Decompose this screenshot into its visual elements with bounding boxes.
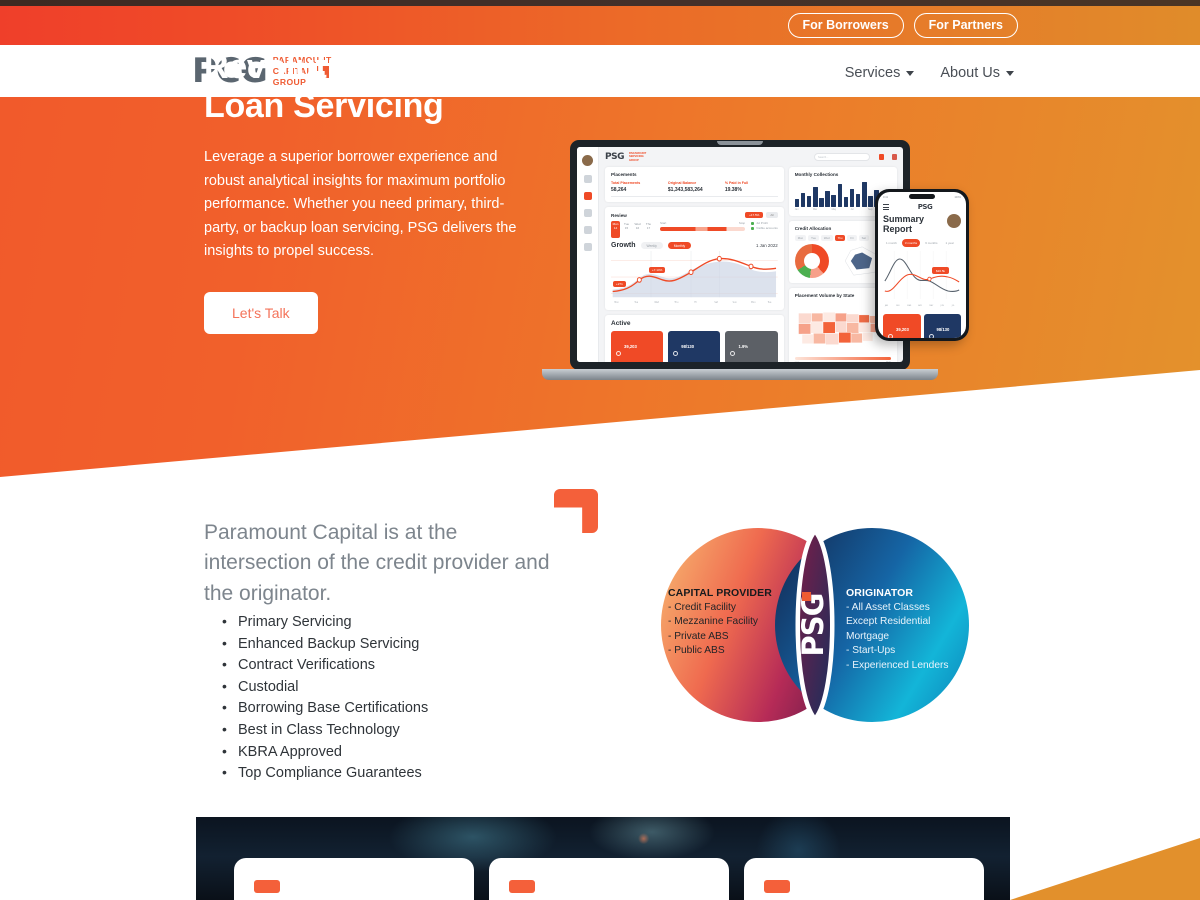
growth-marker-1: +271 (613, 281, 626, 287)
review-legend: Jul Profit Visible accounts (751, 221, 778, 230)
svg-text:JUL: JUL (951, 305, 956, 307)
active-title: Active (611, 320, 778, 327)
venn-left-item: - Credit Facility (668, 601, 790, 615)
nav-item-about-us[interactable]: About Us (940, 65, 1014, 81)
site-header: PCG PARAMOUNT CAPITAL GROUP Services Abo… (0, 45, 1200, 97)
alloc-tab[interactable]: Fri (847, 235, 856, 241)
chip-value: 98/130 (681, 344, 694, 349)
chip-value: 39,203 (624, 344, 637, 349)
growth-chart: MonTueWed ThuFriSat SunMonTue +271 +7.14… (611, 251, 778, 305)
legend-swatch (751, 222, 754, 225)
svg-text:Wed: Wed (654, 301, 659, 304)
venn-right-item: - All Asset Classes (846, 601, 986, 615)
svg-text:Tue: Tue (634, 301, 638, 304)
phone-range-tabs: 1 month 3 months 6 months 1 year (883, 239, 961, 247)
shield-icon (730, 351, 735, 356)
landing-page: For Borrowers For Partners PCG PARAMOUNT… (0, 0, 1200, 900)
phone-chart-marker: $20.5k (932, 267, 949, 274)
hamburger-menu-icon[interactable] (883, 204, 889, 209)
placements-title: Placements (611, 172, 778, 177)
list-item: Custodial (222, 677, 428, 699)
hero-device-mockup: PSG PARAMOUNT SERVICING GROUP Search... (536, 140, 986, 400)
nav-label-about-us: About Us (940, 65, 1000, 81)
range-bar-fill (660, 227, 745, 231)
feature-icon (509, 880, 535, 893)
hero-subtitle: Leverage a superior borrower experience … (204, 146, 524, 263)
svg-text:JUN: JUN (940, 305, 945, 307)
metric-value: $1,343,583,264 (668, 187, 721, 193)
phone-tab[interactable]: 1 month (883, 239, 900, 247)
chip-value: 98/130 (937, 327, 950, 332)
phone-title: Summary Report (883, 214, 924, 234)
venn-left-item: - Private ABS (668, 630, 790, 644)
venn-diagram: PSG CAPITAL PROVIDER - Credit Facility -… (640, 525, 990, 747)
phone-tab[interactable]: 1 year (943, 239, 957, 247)
active-chip-serviced[interactable]: 98/130 Serviced (668, 331, 720, 362)
dashboard-logo-wordmark: PARAMOUNT SERVICING GROUP (629, 152, 646, 162)
features-section (196, 817, 1010, 900)
grid-icon (929, 334, 934, 338)
sidebar-reports-icon[interactable] (584, 209, 592, 217)
svg-text:Sun: Sun (733, 301, 738, 304)
feature-card[interactable] (744, 858, 984, 900)
credit-allocation-donut (795, 244, 829, 278)
metric-label: % Paid in Full (725, 181, 778, 185)
laptop-camera-icon (717, 141, 763, 145)
list-item: Borrowing Base Certifications (222, 698, 428, 720)
laptop-screen: PSG PARAMOUNT SERVICING GROUP Search... (570, 140, 910, 370)
svg-text:APR: APR (918, 304, 922, 307)
chip-value: 1.9% (738, 344, 748, 349)
chevron-down-icon (1006, 71, 1014, 76)
for-partners-button[interactable]: For Partners (914, 13, 1018, 39)
phone-avatar[interactable] (947, 214, 961, 228)
phone-mockup: 9:41 100% PSG Summary Report 1 month 3 m… (875, 189, 969, 341)
nav-item-services[interactable]: Services (845, 65, 915, 81)
active-chip-accounts[interactable]: 39,203 Accounts (611, 331, 663, 362)
metric-original-balance: Original Balance $1,343,583,264 (668, 181, 721, 193)
clock-icon (616, 351, 621, 356)
legend-label: Jul Profit (756, 221, 768, 225)
phone-chip-serviced[interactable]: 98/130 Serviced (924, 314, 962, 338)
metric-value: 19.38% (725, 187, 778, 193)
phone-tab[interactable]: 6 months (922, 239, 940, 247)
orange-wedge-decoration (1010, 838, 1200, 900)
menu-icon[interactable] (892, 154, 897, 160)
scale-high-label: High (886, 361, 891, 362)
list-item: Enhanced Backup Servicing (222, 634, 428, 656)
hero-content: Revolutionizing Loan Servicing Leverage … (204, 48, 524, 334)
intersection-heading: Paramount Capital is at the intersection… (204, 518, 554, 609)
dashboard-app: PSG PARAMOUNT SERVICING GROUP Search... (577, 147, 903, 362)
feature-card[interactable] (489, 858, 729, 900)
phone-chart: JANFEBMAR APRMAYJUNJUL $20.5k (883, 251, 961, 309)
chip-value: 39,203 (896, 327, 909, 332)
svg-text:JAN: JAN (884, 304, 889, 307)
phone-logo-mark: PSG (918, 203, 932, 211)
growth-weekly-tab[interactable]: Weekly (641, 242, 663, 249)
venn-left-label: CAPITAL PROVIDER - Credit Facility - Mez… (668, 587, 790, 659)
alloc-tab[interactable]: Wed (821, 235, 833, 241)
alloc-tab[interactable]: Thu (835, 235, 846, 241)
venn-right-item: - Experienced Lenders (846, 659, 986, 673)
avatar[interactable] (582, 155, 593, 166)
venn-right-item: Except Residential (846, 615, 986, 629)
venn-right-label: ORIGINATOR - All Asset Classes Except Re… (846, 587, 986, 673)
day-chip[interactable]: Thu 17 (644, 221, 653, 231)
active-chip-delinquency[interactable]: 1.9% 30+ Delinq % (725, 331, 777, 362)
phone-screen: 9:41 100% PSG Summary Report 1 month 3 m… (878, 192, 966, 338)
feature-cards (234, 858, 984, 900)
laptop-mockup: PSG PARAMOUNT SERVICING GROUP Search... (570, 140, 910, 370)
venn-right-item: - Start-Ups (846, 644, 986, 658)
svg-text:Sat: Sat (714, 301, 718, 304)
svg-text:MAR: MAR (907, 304, 912, 307)
laptop-base (542, 369, 938, 380)
svg-text:Thu: Thu (674, 301, 679, 304)
review-tag-primary: +17.5% (745, 212, 763, 218)
grid-icon (673, 351, 678, 356)
clock-icon (888, 334, 893, 338)
dashboard-search-input[interactable]: Search... (814, 153, 870, 161)
sidebar-settings-icon[interactable] (584, 243, 592, 251)
divider (611, 196, 778, 197)
venn-right-title: ORIGINATOR (846, 587, 986, 599)
main-nav: Services About Us (845, 65, 1014, 81)
alloc-tab[interactable]: Mon (795, 235, 806, 241)
metric-label: Original Balance (668, 181, 721, 185)
review-title: Review (611, 213, 627, 218)
day-chip[interactable]: Mon 14 (611, 221, 620, 238)
svg-text:Mon: Mon (751, 301, 756, 304)
range-start-label: Start (660, 221, 666, 225)
alloc-tab[interactable]: Sat (859, 235, 869, 241)
active-card: Active 39,203 Accounts (605, 315, 784, 362)
chevron-down-icon (906, 71, 914, 76)
map-legend-scale (795, 357, 891, 360)
feature-icon (254, 880, 280, 893)
nav-label-services: Services (845, 65, 901, 81)
range-end-label: Stop (739, 221, 745, 225)
dashboard-topbar: PSG PARAMOUNT SERVICING GROUP Search... (599, 147, 903, 162)
metric-total-placements: Total Placements 58,264 (611, 181, 664, 193)
svg-text:PSG: PSG (796, 594, 830, 657)
phone-appbar: PSG (883, 203, 961, 211)
svg-text:Mon: Mon (614, 301, 619, 304)
legend-label: Visible accounts (756, 226, 778, 230)
metric-paid-in-full: % Paid in Full 19.38% (725, 181, 778, 193)
list-item: Top Compliance Guarantees (222, 763, 428, 785)
utility-bar: For Borrowers For Partners (0, 6, 1200, 45)
phone-notch (909, 194, 935, 199)
list-item: Primary Servicing (222, 612, 428, 634)
dashboard-logo-mark: PSG (605, 152, 624, 162)
venn-left-item: - Public ABS (668, 644, 790, 658)
growth-monthly-tab[interactable]: Monthly (668, 242, 691, 249)
phone-battery: 100% (954, 196, 961, 199)
scale-low-label: Low (795, 361, 799, 362)
feature-card[interactable] (234, 858, 474, 900)
growth-title: Growth (611, 242, 636, 249)
feature-icon (764, 880, 790, 893)
phone-time: 9:41 (883, 196, 888, 199)
svg-text:FEB: FEB (896, 305, 900, 307)
svg-text:Fri: Fri (694, 301, 697, 304)
list-item: Contract Verifications (222, 655, 428, 677)
metric-label: Total Placements (611, 181, 664, 185)
legend-swatch (751, 227, 754, 230)
venn-left-title: CAPITAL PROVIDER (668, 587, 790, 599)
placements-metrics: Total Placements 58,264 Original Balance… (611, 181, 778, 193)
phone-tab[interactable]: 3 months (902, 239, 920, 247)
hero-title: Revolutionizing Loan Servicing (204, 48, 524, 126)
review-card: Review +17.5% All Mon (605, 207, 784, 310)
list-item: Best in Class Technology (222, 720, 428, 742)
day-chip[interactable]: Tue 15 (622, 221, 631, 231)
metric-value: 58,264 (611, 187, 664, 193)
sidebar-home-icon[interactable] (584, 175, 592, 183)
dashboard-sidebar (577, 147, 599, 362)
review-tag-muted: All (766, 212, 777, 218)
list-item: KBRA Approved (222, 742, 428, 764)
sidebar-users-icon[interactable] (584, 226, 592, 234)
svg-text:Tue: Tue (768, 301, 772, 304)
notifications-icon[interactable] (879, 154, 884, 160)
review-range-bar[interactable]: Start Stop (660, 221, 745, 231)
placements-card: Placements Total Placements 58,264 Origi… (605, 167, 784, 202)
venn-left-item: - Mezzanine Facility (668, 615, 790, 629)
services-list: Primary Servicing Enhanced Backup Servic… (222, 612, 428, 785)
lets-talk-button[interactable]: Let's Talk (204, 292, 318, 334)
intersection-section (0, 477, 1200, 817)
growth-date: 1 Jan 2022 (756, 243, 778, 248)
monthly-collections-title: Monthly Collections (795, 172, 891, 177)
search-placeholder: Search... (818, 156, 828, 159)
svg-text:MAY: MAY (929, 304, 934, 307)
for-borrowers-button[interactable]: For Borrowers (788, 13, 904, 39)
alloc-tab[interactable]: Tue (808, 235, 819, 241)
sidebar-dashboard-icon[interactable] (584, 192, 592, 200)
map-legend-labels: Low High (795, 361, 891, 362)
phone-chip-accounts[interactable]: 39,203 Accounts (883, 314, 921, 338)
growth-marker-2: +7.14% (649, 267, 665, 273)
venn-right-item: Mortgage (846, 630, 986, 644)
day-chip[interactable]: Wed 16 (633, 221, 642, 231)
